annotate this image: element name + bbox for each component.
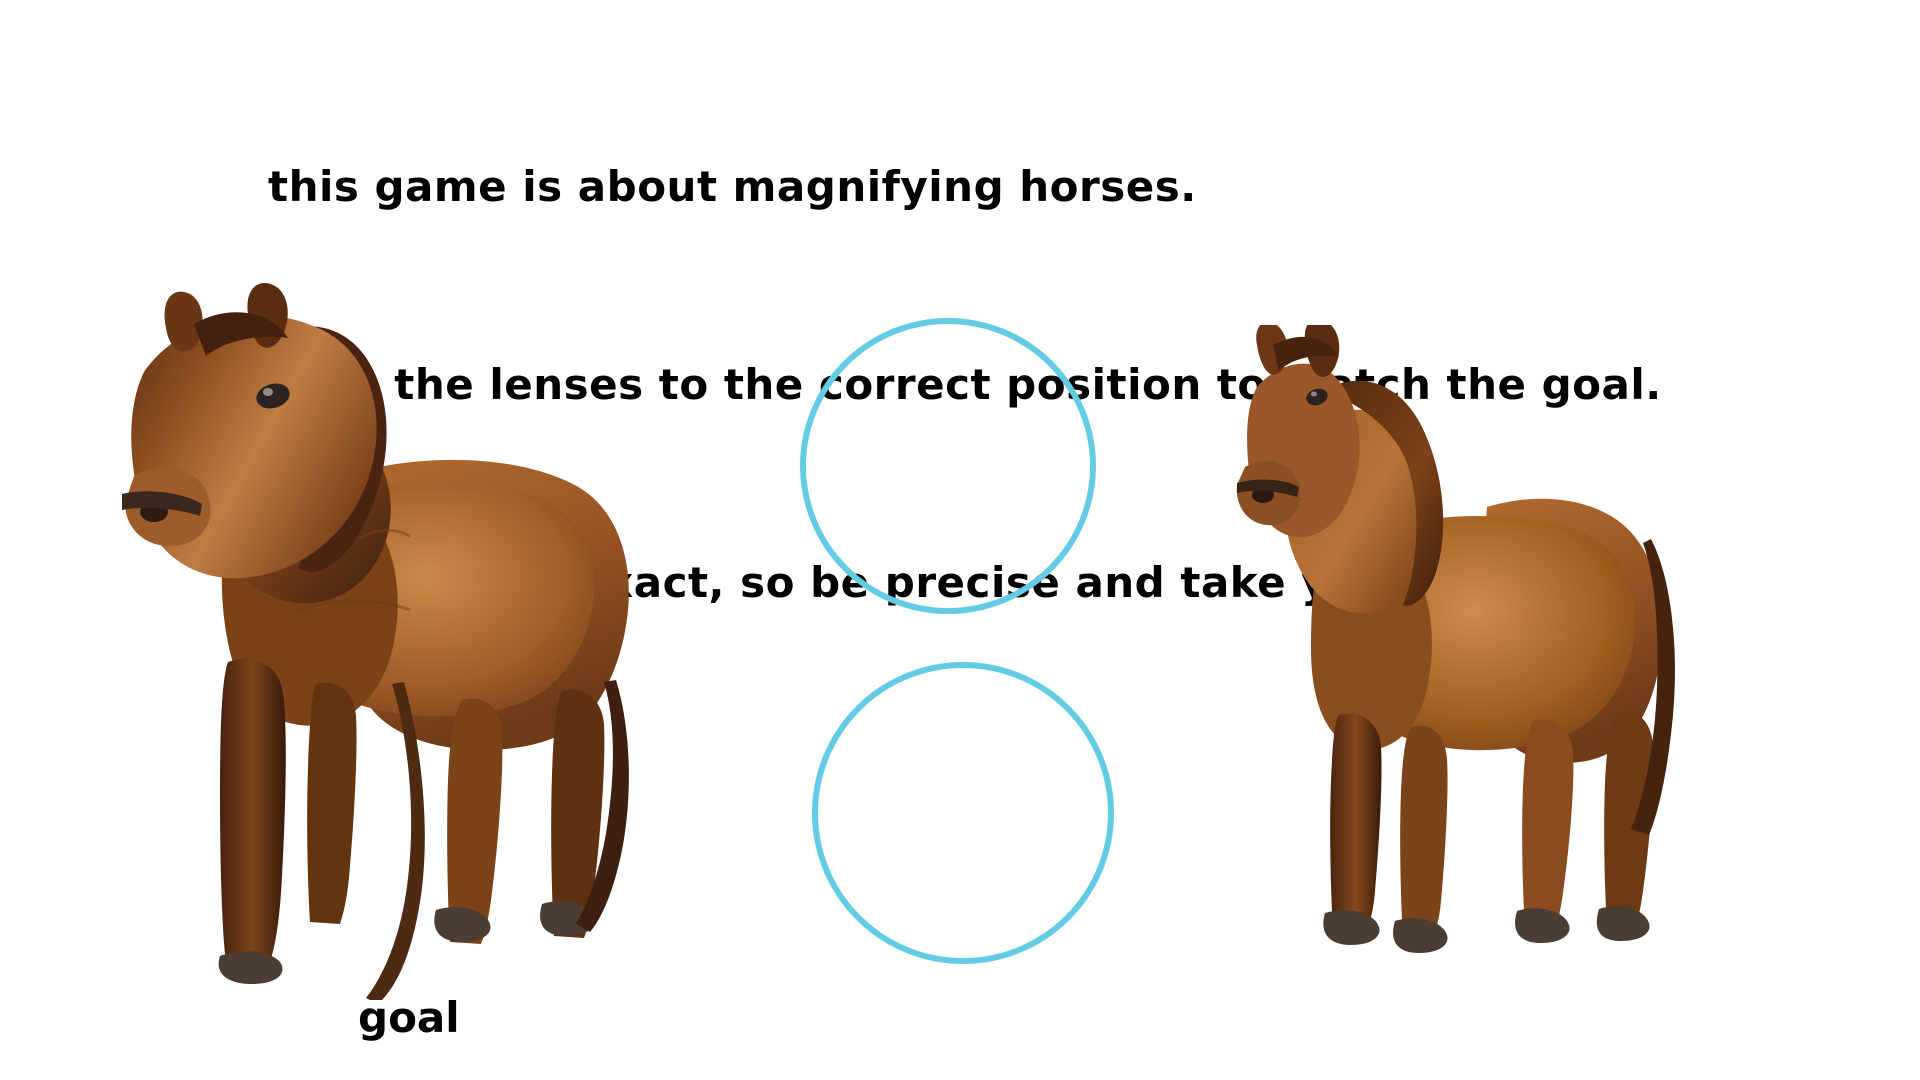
goal-horse-front-leg-left bbox=[220, 659, 286, 962]
player-horse-eye-highlight bbox=[1311, 392, 1317, 397]
player-horse-hoof-hind-near bbox=[1515, 908, 1569, 943]
goal-label: goal bbox=[358, 993, 460, 1043]
game-canvas: this game is about magnifying horses. dr… bbox=[0, 0, 1920, 1080]
player-horse-front-leg-far bbox=[1400, 725, 1447, 939]
player-horse-hoof-front-far bbox=[1393, 918, 1447, 953]
goal-horse-hind-leg-near bbox=[447, 698, 502, 944]
player-horse-image bbox=[1235, 325, 1685, 965]
player-horse-hind-leg-near bbox=[1522, 719, 1573, 931]
player-horse-front-leg-near bbox=[1330, 713, 1381, 931]
goal-horse-ear-left bbox=[165, 292, 203, 352]
player-horse bbox=[1235, 325, 1685, 965]
goal-horse-front-leg-right bbox=[307, 682, 356, 924]
goal-horse-image bbox=[110, 280, 650, 1000]
instructions-line-1: this game is about magnifying horses. bbox=[268, 154, 1768, 220]
goal-horse-hoof-front-left bbox=[219, 951, 283, 984]
lens-top[interactable] bbox=[800, 318, 1096, 614]
goal-horse bbox=[110, 280, 650, 1000]
lens-bottom[interactable] bbox=[812, 662, 1114, 964]
goal-horse-eye-highlight bbox=[263, 388, 273, 396]
player-horse-hoof-hind-far bbox=[1597, 906, 1650, 941]
